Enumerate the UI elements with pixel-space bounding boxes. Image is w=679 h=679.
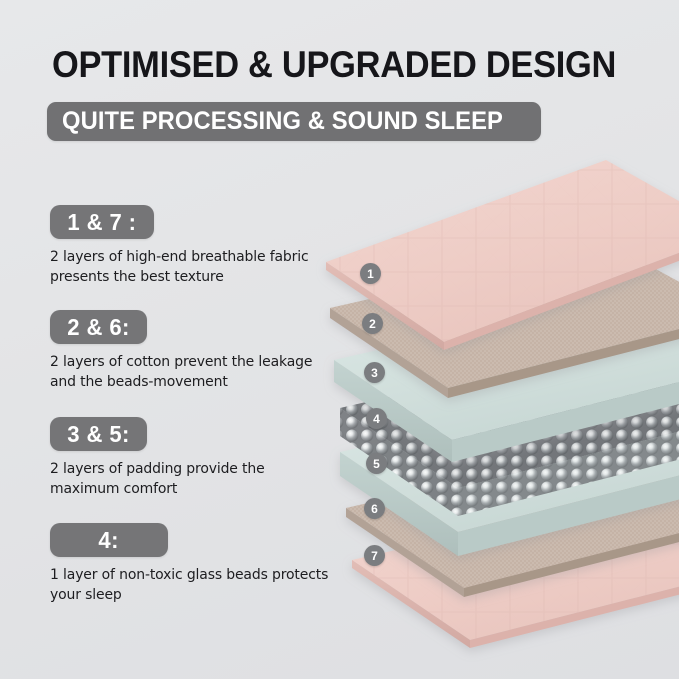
feature-badge-label-2: 2 & 6: <box>67 314 129 341</box>
feature-badge-label-1: 1 & 7 : <box>67 209 136 236</box>
layer-number-badge-6: 6 <box>364 498 385 519</box>
layer-number-badge-4: 4 <box>366 408 387 429</box>
feature-badge-2: 2 & 6: <box>50 310 147 344</box>
layer-number-badge-7: 7 <box>364 545 385 566</box>
layer-number-badge-5: 5 <box>366 453 387 474</box>
feature-description-4: 1 layer of non-toxic glass beads protect… <box>50 566 331 605</box>
page-title: OPTIMISED & UPGRADED DESIGN <box>52 44 610 86</box>
feature-badge-label-3: 3 & 5: <box>67 421 129 448</box>
subtitle-badge: QUITE PROCESSING & SOUND SLEEP <box>47 102 541 141</box>
layer-4 <box>340 344 679 516</box>
feature-badge-3: 3 & 5: <box>50 417 147 451</box>
feature-badge-4: 4: <box>50 523 168 557</box>
feature-badge-1: 1 & 7 : <box>50 205 154 239</box>
layer-3 <box>334 296 679 462</box>
feature-description-1: 2 layers of high-end breathable fabric p… <box>50 248 331 287</box>
feature-block-2: 2 & 6: 2 layers of cotton prevent the le… <box>50 310 335 392</box>
layer-number-badge-1: 1 <box>360 263 381 284</box>
layer-5 <box>340 388 679 556</box>
layer-2 <box>330 244 679 398</box>
feature-block-3: 3 & 5: 2 layers of padding provide the m… <box>50 417 335 499</box>
layer-number-badge-2: 2 <box>362 313 383 334</box>
layer-6 <box>346 444 679 597</box>
infographic-page: OPTIMISED & UPGRADED DESIGN QUITE PROCES… <box>0 0 679 679</box>
feature-description-3: 2 layers of padding provide the maximum … <box>50 460 331 499</box>
layer-number-badge-3: 3 <box>364 362 385 383</box>
layer-7 <box>352 496 679 648</box>
feature-block-1: 1 & 7 : 2 layers of high-end breathable … <box>50 205 335 287</box>
subtitle-text: QUITE PROCESSING & SOUND SLEEP <box>62 107 503 136</box>
feature-block-4: 4: 1 layer of non-toxic glass beads prot… <box>50 523 335 605</box>
feature-badge-label-4: 4: <box>99 527 119 554</box>
layer-1 <box>326 160 679 350</box>
feature-description-2: 2 layers of cotton prevent the leakage a… <box>50 353 331 392</box>
